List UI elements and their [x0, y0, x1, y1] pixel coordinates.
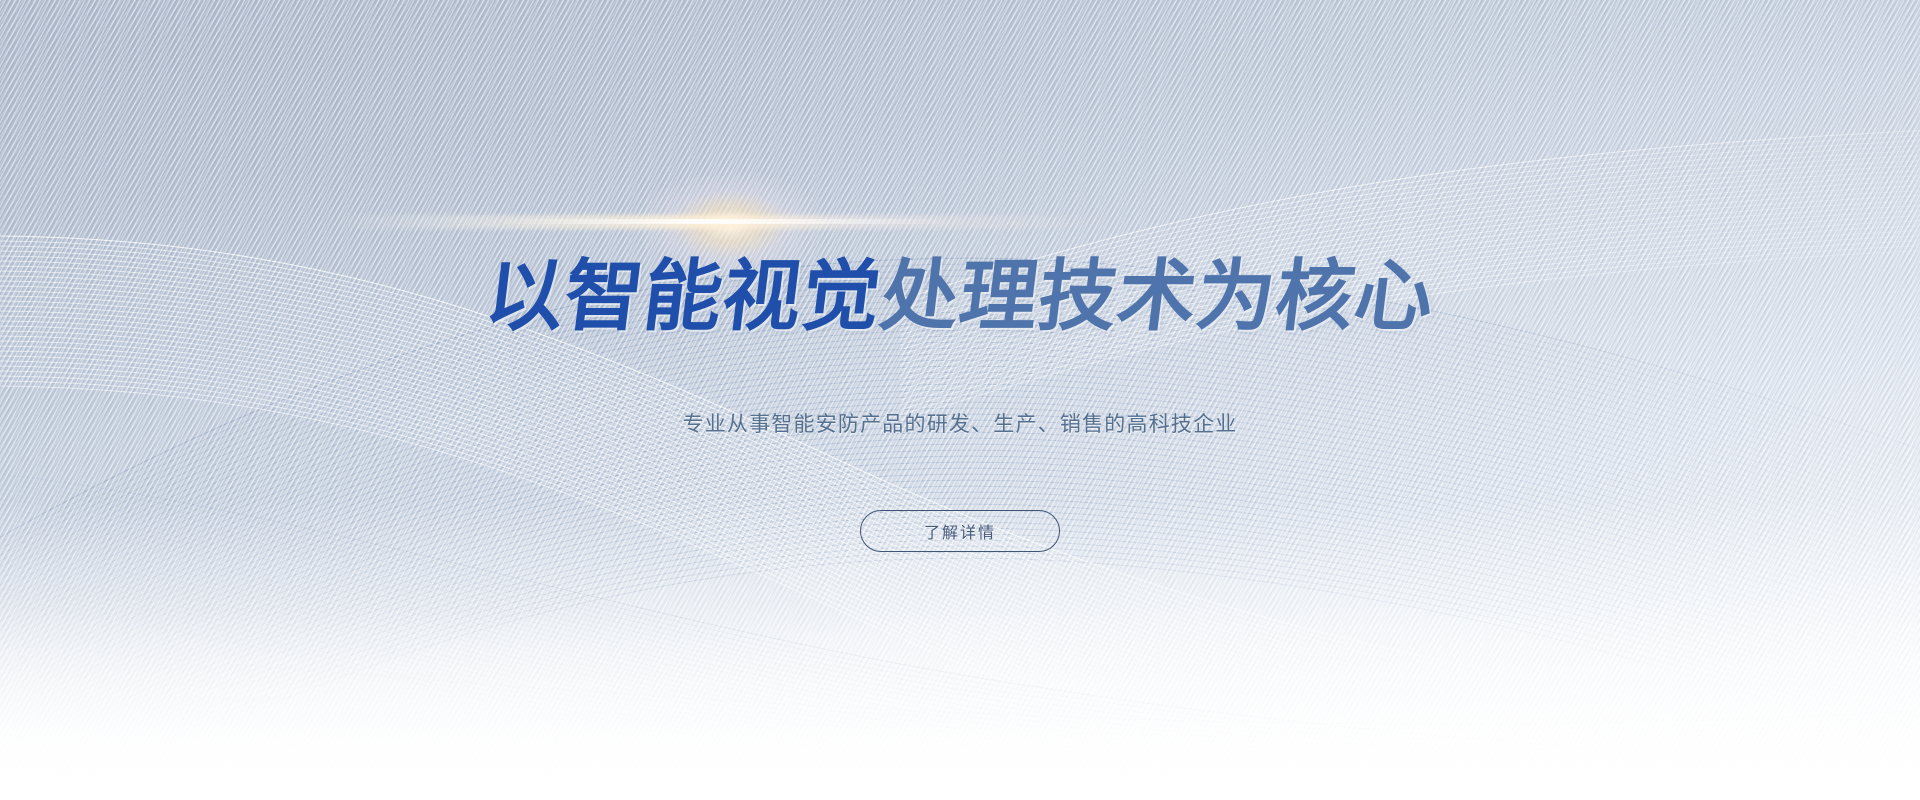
headline-segment-secondary: 处理技术为核心: [875, 252, 1439, 342]
hero-subtitle: 专业从事智能安防产品的研发、生产、销售的高科技企业: [0, 408, 1920, 438]
learn-more-button[interactable]: 了解详情: [860, 510, 1060, 552]
hero-cta-container: 了解详情: [0, 510, 1920, 552]
hero-headline: 以智能视觉处理技术为核心: [0, 258, 1920, 336]
lens-flare-streak-core: [500, 219, 960, 224]
background-wave-lines: [0, 0, 1920, 800]
lens-flare-streak: [330, 215, 1130, 229]
hero-content: 以智能视觉处理技术为核心 专业从事智能安防产品的研发、生产、销售的高科技企业 了…: [0, 0, 1920, 800]
background-top-left-shade: [0, 0, 1920, 800]
background-hatch-texture: [0, 0, 1920, 800]
headline-segment-primary: 以智能视觉: [480, 252, 886, 342]
hero-banner: 以智能视觉处理技术为核心 专业从事智能安防产品的研发、生产、销售的高科技企业 了…: [0, 0, 1920, 800]
background-hatch-texture-secondary: [0, 0, 1920, 800]
